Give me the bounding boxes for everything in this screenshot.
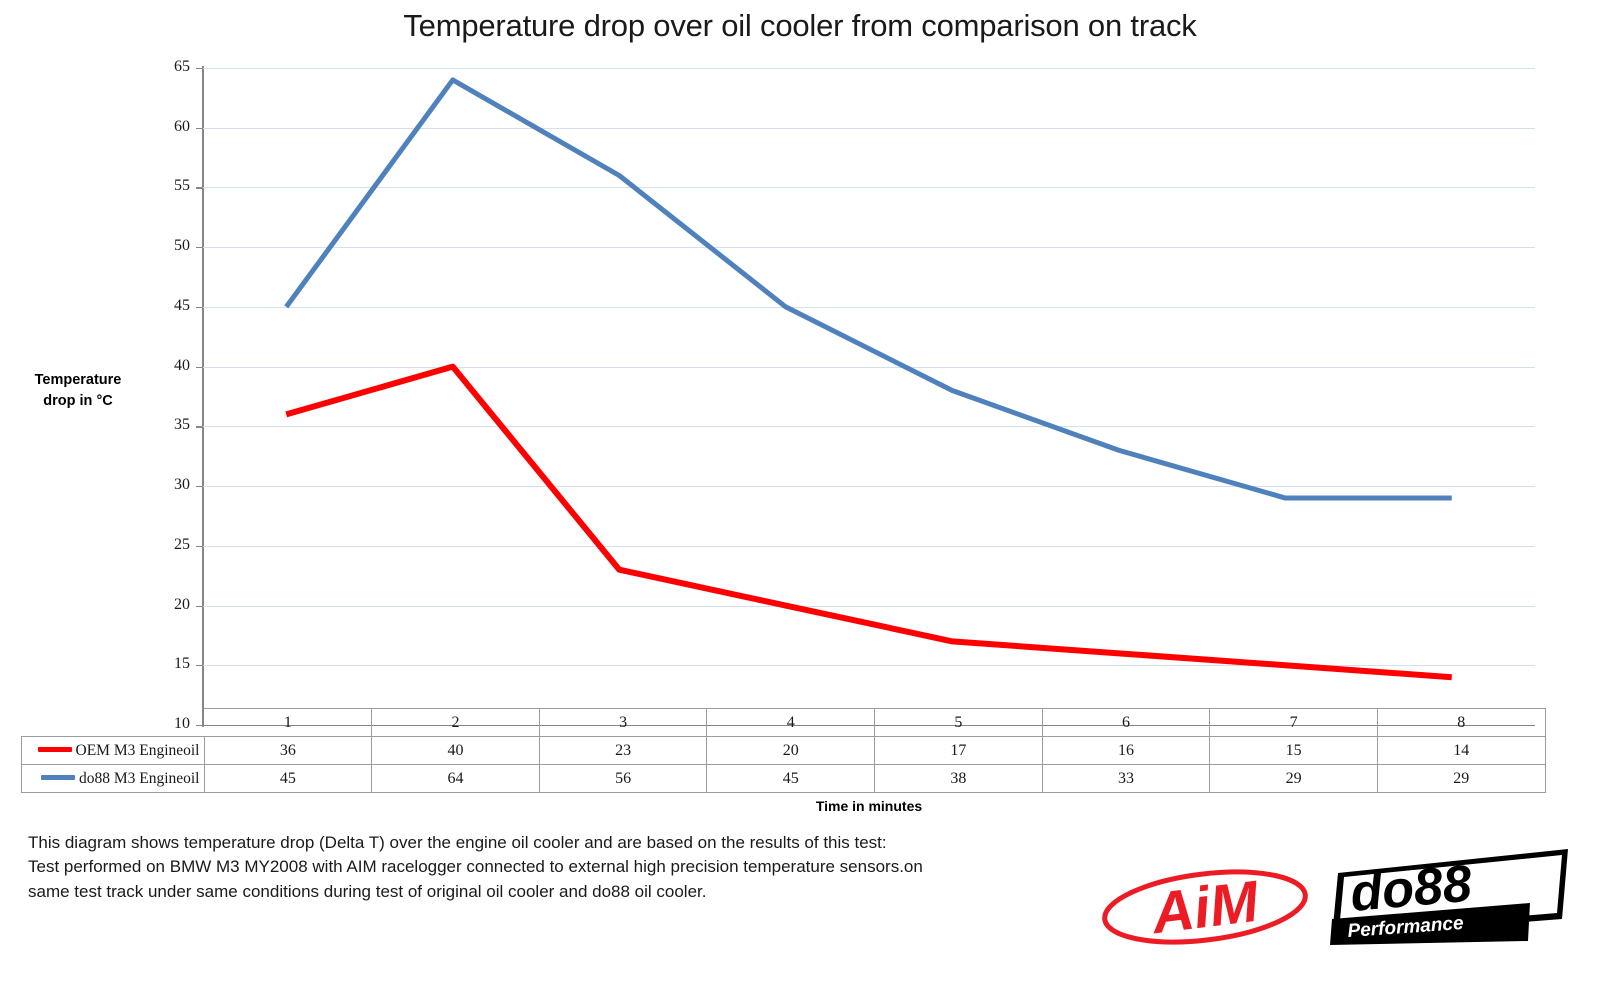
y-axis-label-45: 45: [144, 297, 190, 315]
legend-swatch-2: [41, 775, 75, 780]
table-row-1-cell-6: 16: [1042, 737, 1210, 765]
table-row-1: OEM M3 Engineoil3640232017161514: [22, 737, 1546, 765]
y-axis-label-wrap-35: 35: [140, 416, 190, 436]
y-tick-55: [196, 187, 203, 188]
table-row-header-1: OEM M3 Engineoil: [22, 737, 205, 765]
y-axis-label-35: 35: [144, 416, 190, 434]
y-axis-label-65: 65: [144, 58, 190, 76]
y-axis-label-wrap-40: 40: [140, 357, 190, 377]
footnote-line-1: This diagram shows temperature drop (Del…: [28, 831, 1088, 855]
y-tick-25: [196, 546, 203, 547]
table-corner-blank: [22, 709, 205, 737]
series-line-oem-m3-engineoil: [286, 367, 1452, 678]
table-header-row-cell-8: 8: [1377, 709, 1545, 737]
table-row-header-2: do88 M3 Engineoil: [22, 765, 205, 793]
y-axis-label-20: 20: [144, 596, 190, 614]
table-row-2-cell-5: 38: [875, 765, 1043, 793]
table-row-1-cell-7: 15: [1210, 737, 1378, 765]
table-row-2-cell-6: 33: [1042, 765, 1210, 793]
chart-title: Temperature drop over oil cooler from co…: [0, 8, 1600, 44]
legend-swatch-1: [38, 747, 72, 752]
table-row-2-cell-4: 45: [707, 765, 875, 793]
table-row-2-cell-8: 29: [1377, 765, 1545, 793]
y-axis-label-wrap-30: 30: [140, 476, 190, 496]
y-axis-label-wrap-50: 50: [140, 237, 190, 257]
y-axis-label-60: 60: [144, 118, 190, 136]
table-row-2-cell-7: 29: [1210, 765, 1378, 793]
aim-logo-text: AiM: [1146, 869, 1263, 947]
table-header-row-cell-3: 3: [539, 709, 707, 737]
y-tick-15: [196, 665, 203, 666]
aim-logo: AiM: [1098, 855, 1313, 947]
y-tick-50: [196, 247, 203, 248]
y-tick-35: [196, 426, 203, 427]
y-tick-40: [196, 367, 203, 368]
y-axis-label-50: 50: [144, 237, 190, 255]
table-row-1-cell-3: 23: [539, 737, 707, 765]
y-axis-label-wrap-55: 55: [140, 177, 190, 197]
y-axis-label-wrap-20: 20: [140, 596, 190, 616]
legend-label-1: OEM M3 Engineoil: [76, 742, 200, 759]
data-table: 12345678OEM M3 Engineoil3640232017161514…: [21, 708, 1546, 793]
table-header-row-cell-5: 5: [875, 709, 1043, 737]
table-header-row-cell-7: 7: [1210, 709, 1378, 737]
y-axis-label-15: 15: [144, 655, 190, 673]
legend-label-2: do88 M3 Engineoil: [79, 770, 200, 787]
y-axis-title: Temperature drop in °C: [8, 370, 148, 412]
table-row-2-cell-1: 45: [204, 765, 372, 793]
footnote-line-2: Test performed on BMW M3 MY2008 with AIM…: [28, 855, 1088, 879]
y-axis-label-wrap-25: 25: [140, 536, 190, 556]
y-axis-label-30: 30: [144, 476, 190, 494]
y-axis-label-wrap-15: 15: [140, 655, 190, 675]
table-header-row: 12345678: [22, 709, 1546, 737]
y-axis-label-wrap-45: 45: [140, 297, 190, 317]
y-tick-65: [196, 68, 203, 69]
table-row-2-cell-3: 56: [539, 765, 707, 793]
y-axis-label-wrap-60: 60: [140, 118, 190, 138]
y-axis-label-55: 55: [144, 177, 190, 195]
footnote: This diagram shows temperature drop (Del…: [28, 831, 1088, 904]
table-header-row-cell-1: 1: [204, 709, 372, 737]
y-tick-30: [196, 486, 203, 487]
table-header-row-cell-6: 6: [1042, 709, 1210, 737]
plot-area: [203, 68, 1535, 725]
series-line-do88-m3-engineoil: [286, 80, 1452, 498]
y-axis-label-25: 25: [144, 536, 190, 554]
do88-logo: do88 Performance: [1330, 845, 1570, 945]
table-row-2: do88 M3 Engineoil4564564538332929: [22, 765, 1546, 793]
chart-container: Temperature drop over oil cooler from co…: [0, 0, 1600, 981]
footnote-line-3: same test track under same conditions du…: [28, 880, 1088, 904]
y-tick-20: [196, 606, 203, 607]
table-row-1-cell-5: 17: [875, 737, 1043, 765]
table-row-1-cell-1: 36: [204, 737, 372, 765]
table-row-1-cell-4: 20: [707, 737, 875, 765]
y-axis-title-line-2: drop in °C: [8, 391, 148, 412]
y-axis-label-40: 40: [144, 357, 190, 375]
y-tick-60: [196, 128, 203, 129]
table-header-row-cell-4: 4: [707, 709, 875, 737]
y-axis-label-wrap-65: 65: [140, 58, 190, 78]
table-header-row-cell-2: 2: [372, 709, 540, 737]
table-row-1-cell-2: 40: [372, 737, 540, 765]
x-axis-title: Time in minutes: [203, 798, 1535, 814]
table-row-2-cell-2: 64: [372, 765, 540, 793]
y-axis-title-line-1: Temperature: [8, 370, 148, 391]
series-lines: [203, 68, 1535, 725]
table-row-1-cell-8: 14: [1377, 737, 1545, 765]
y-tick-45: [196, 307, 203, 308]
